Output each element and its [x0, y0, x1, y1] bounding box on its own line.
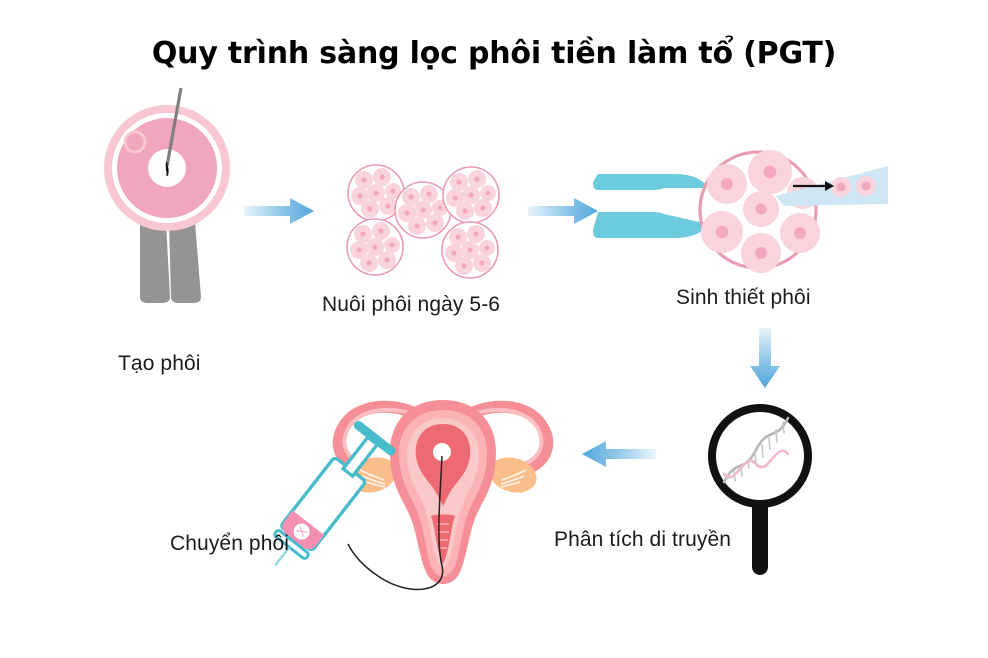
- holding-pipette-teal-icon: [593, 174, 708, 238]
- page-title: Quy trình sàng lọc phôi tiền làm tổ (PGT…: [0, 36, 988, 71]
- arrow-1-right: [244, 196, 316, 231]
- stage-embryo-transfer: [290, 380, 570, 595]
- step-label-culture-embryo: Nuôi phôi ngày 5-6: [322, 293, 500, 317]
- stage-embryo-biopsy: [598, 160, 888, 285]
- stage-genetic-analysis: [700, 400, 820, 580]
- biopsy-icon: [598, 160, 888, 285]
- arrow-3-down: [748, 328, 782, 395]
- stage-create-embryo: [96, 100, 266, 340]
- uterus-transfer-icon: [290, 380, 570, 595]
- arrow-2-right: [528, 196, 600, 231]
- embryo-3: [443, 167, 499, 223]
- step-label-embryo-transfer: Chuyển phôi: [170, 532, 289, 556]
- pgt-workflow-infographic: Quy trình sàng lọc phôi tiền làm tổ (PGT…: [0, 0, 988, 658]
- step-label-create-embryo: Tạo phôi: [118, 352, 201, 376]
- arrow-4-left: [578, 438, 658, 475]
- step-label-embryo-biopsy: Sinh thiết phôi: [676, 286, 811, 310]
- magnifier-lens: [712, 408, 808, 504]
- embryo-5: [442, 222, 498, 278]
- step-label-genetic-analysis: Phân tích di truyền: [554, 528, 731, 552]
- magnifier-handle: [752, 500, 768, 575]
- syringe-icon: [256, 419, 398, 581]
- stage-culture-embryo: [344, 162, 504, 272]
- embryo-cluster-icon: [344, 162, 504, 272]
- magnifier-dna-icon: [700, 400, 820, 580]
- oocyte-icsi-icon: [96, 100, 266, 340]
- embryo-4: [347, 219, 403, 275]
